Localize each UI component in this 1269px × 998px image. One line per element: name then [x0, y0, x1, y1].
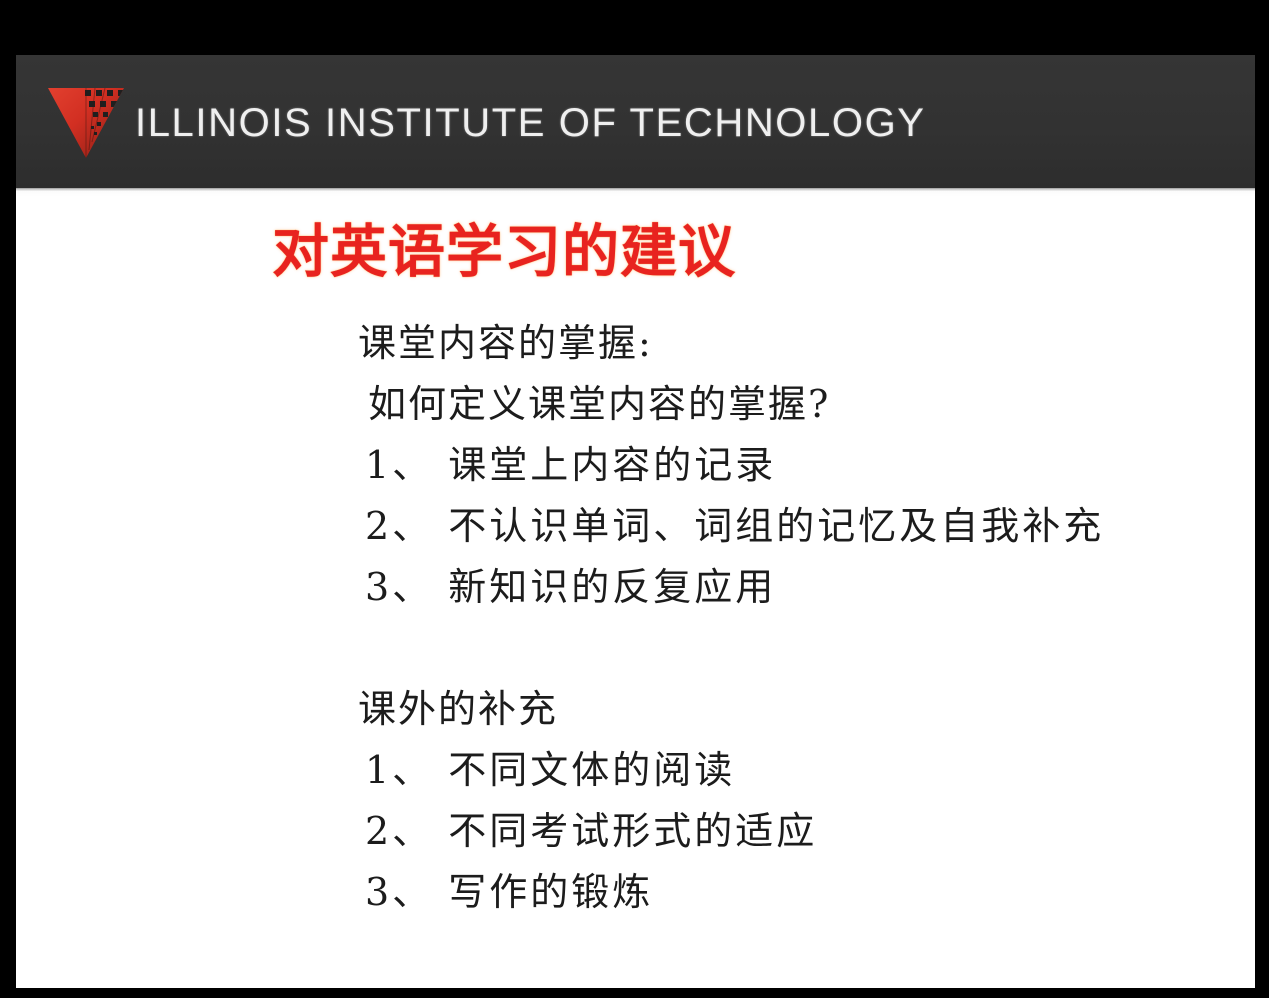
section-1-item-2: 2、 不认识单词、词组的记忆及自我补充: [365, 496, 1255, 557]
section-2-item-1: 1、 不同文体的阅读: [365, 740, 1255, 801]
slide-body: 课堂内容的掌握: 如何定义课堂内容的掌握? 1、 课堂上内容的记录 2、 不认识…: [16, 313, 1255, 923]
iit-triangle-logo-icon: [45, 80, 127, 166]
section-2-heading: 课外的补充: [358, 679, 1255, 740]
section-1-question: 如何定义课堂内容的掌握?: [368, 374, 1255, 435]
section-gap: [16, 618, 1255, 679]
organization-name: ILLINOIS INSTITUTE OF TECHNOLOGY: [135, 96, 926, 150]
section-1-heading: 课堂内容的掌握:: [358, 313, 1255, 374]
slide-title: 对英语学习的建议: [272, 219, 736, 285]
section-1-item-1: 1、 课堂上内容的记录: [365, 435, 1255, 496]
slide-frame: ILLINOIS INSTITUTE OF TECHNOLOGY 对英语学习的建…: [16, 55, 1255, 988]
section-2-item-3: 3、 写作的锻炼: [365, 862, 1255, 923]
section-2-item-2: 2、 不同考试形式的适应: [365, 801, 1255, 862]
section-1-item-3: 3、 新知识的反复应用: [365, 557, 1255, 618]
header-divider-glow: [16, 191, 1255, 197]
